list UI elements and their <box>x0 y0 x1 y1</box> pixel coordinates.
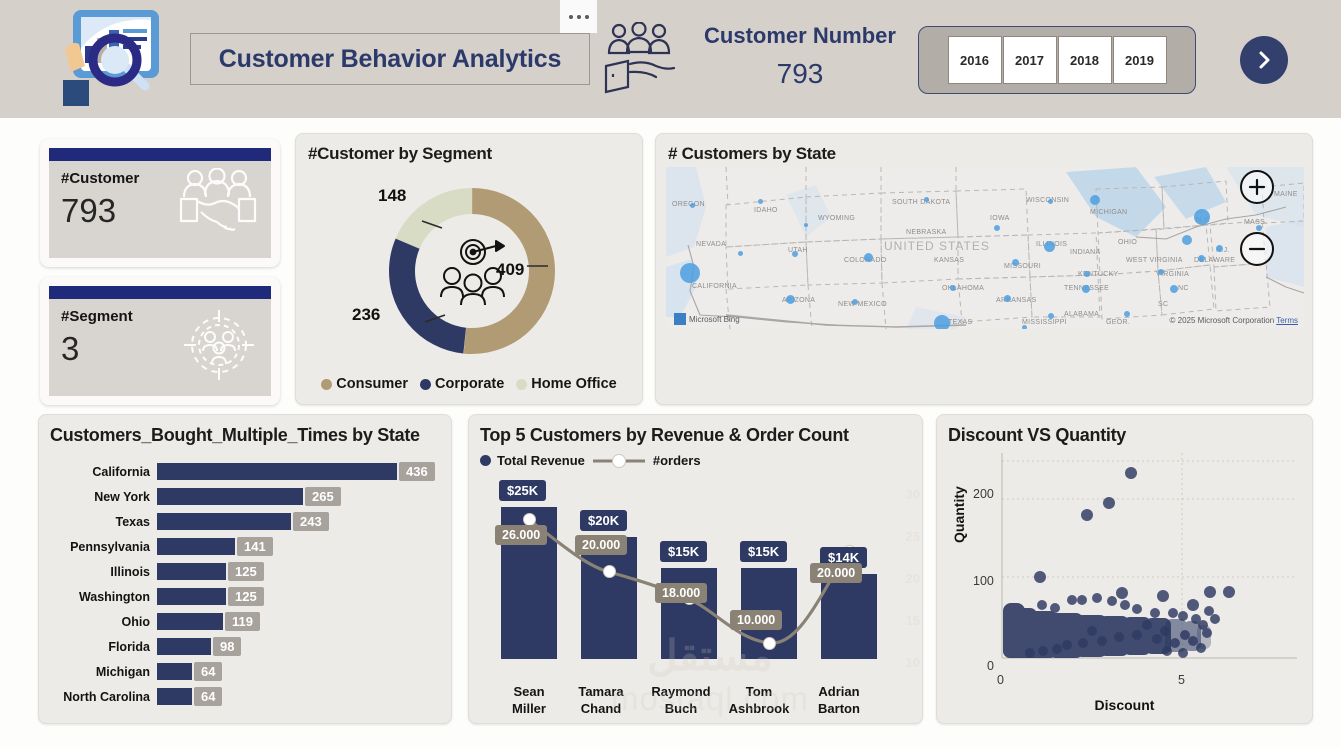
slicer-year-2019[interactable]: 2019 <box>1113 36 1167 84</box>
map-bubble[interactable] <box>852 299 858 305</box>
table-row[interactable]: Washington 125 <box>47 584 445 609</box>
combo-line-label: 20.000 <box>575 535 627 555</box>
map-label-oklahoma: OKLAHOMA <box>942 285 984 292</box>
bar-value: 64 <box>194 687 222 706</box>
bar-value: 125 <box>228 562 264 581</box>
map-label-wyoming: WYOMING <box>818 215 855 222</box>
combo-x-line2: Ashbrook <box>717 700 801 717</box>
bar-value: 265 <box>305 487 341 506</box>
map-label-country: UNITED STATES <box>884 239 990 253</box>
bar-fill <box>157 513 291 530</box>
map-label-iowa: IOWA <box>990 215 1010 222</box>
map-label-texas: TEXAS <box>948 319 972 326</box>
state-bar-panel: Customers_Bought_Multiple_Times by State… <box>38 414 452 724</box>
bar-fill <box>157 488 303 505</box>
combo-x-line1: Tom <box>717 683 801 700</box>
bar-fill <box>157 588 226 605</box>
scatter-title: Discount VS Quantity <box>948 425 1126 446</box>
map-bubble[interactable] <box>1198 255 1205 262</box>
bar-value: 141 <box>237 537 273 556</box>
combo-x-line1: Tamara <box>559 683 643 700</box>
bar-fill <box>157 463 397 480</box>
map-bubble[interactable] <box>1158 269 1164 275</box>
kpi-accent-bar <box>49 286 271 299</box>
map-label-michigan: MICHIGAN <box>1090 209 1127 216</box>
bar-category: California <box>47 465 157 479</box>
handshake-people-icon <box>177 168 259 239</box>
map-bubble[interactable] <box>1216 245 1223 252</box>
combo-line-point[interactable] <box>603 565 616 578</box>
scatter-x-tick-5: 5 <box>1178 673 1185 687</box>
map-label-south-dakota: SOUTH DAKOTA <box>892 199 950 206</box>
legend-label-corporate: Corporate <box>435 376 504 392</box>
map-canvas[interactable]: OREGON IDAHO WYOMING SOUTH DAKOTA NEBRAS… <box>666 167 1304 329</box>
state-bar-title: Customers_Bought_Multiple_Times by State <box>50 425 420 446</box>
chevron-right-icon[interactable] <box>1240 36 1288 84</box>
bar-category: Pennsylvania <box>47 540 157 554</box>
legend-item-consumer[interactable]: Consumer <box>321 376 408 392</box>
map-bubble[interactable] <box>1194 209 1210 225</box>
donut-label-corporate: 236 <box>352 305 380 325</box>
map-bubble[interactable] <box>792 251 798 257</box>
map-bubble[interactable] <box>950 285 956 291</box>
combo-axis-right-tick: 20 <box>906 571 920 586</box>
combo-x-line1: Raymond <box>639 683 723 700</box>
table-row[interactable]: Michigan 64 <box>47 659 445 684</box>
bar-fill <box>157 563 226 580</box>
customers-hand-icon <box>600 22 678 96</box>
map-label-alabama: ALABAMA <box>1064 311 1099 318</box>
bar-track: 436 <box>157 459 445 484</box>
target-audience-icon <box>179 306 259 389</box>
map-bubble[interactable] <box>1012 259 1019 266</box>
legend-item-corporate[interactable]: Corporate <box>420 376 504 392</box>
map-bubble[interactable] <box>1048 199 1053 204</box>
map-terms-link[interactable]: Terms <box>1276 316 1298 325</box>
bar-category: New York <box>47 490 157 504</box>
bar-track: 64 <box>157 659 445 684</box>
bing-label: Microsoft Bing <box>689 315 740 324</box>
bar-category: North Carolina <box>47 690 157 704</box>
combo-x-label: Adrian Barton <box>797 683 881 717</box>
combo-bar-label: $15K <box>660 541 707 562</box>
bar-track: 119 <box>157 609 445 634</box>
combo-line-label: 10.000 <box>730 610 782 630</box>
donut-legend: Consumer Corporate Home Office <box>296 376 642 392</box>
map-panel: # Customers by State <box>655 133 1313 405</box>
scatter-y-tick-100: 100 <box>973 574 994 588</box>
bar-fill <box>157 663 192 680</box>
legend-line-orders-icon <box>591 454 647 468</box>
table-row[interactable]: Texas 243 <box>47 509 445 534</box>
microsoft-bing-logo: Microsoft Bing <box>674 313 740 325</box>
map-label-south-carolina: SC <box>1158 301 1168 308</box>
map-bubble[interactable] <box>924 197 929 202</box>
map-label-mississippi: MISSISSIPPI <box>1022 319 1067 326</box>
table-row[interactable]: Pennsylvania 141 <box>47 534 445 559</box>
combo-line-label: 26.000 <box>495 525 547 545</box>
donut-panel: #Customer by Segment 409 148 <box>295 133 643 405</box>
combo-x-line2: Chand <box>559 700 643 717</box>
year-slicer[interactable]: 2016 2017 2018 2019 <box>918 26 1196 94</box>
donut-title: #Customer by Segment <box>308 144 492 164</box>
kpi-customer-label: #Customer <box>61 170 139 187</box>
page-title: Customer Behavior Analytics <box>219 45 561 74</box>
map-bubble[interactable] <box>1048 313 1054 319</box>
bar-fill <box>157 613 223 630</box>
combo-axis-right-tick: 25 <box>906 529 920 544</box>
combo-x-line2: Buch <box>639 700 723 717</box>
map-label-maine: MAINE <box>1274 191 1298 198</box>
bar-value: 436 <box>399 462 435 481</box>
legend-swatch-consumer <box>321 379 332 390</box>
page-header: Customer Behavior Analytics <box>0 0 1341 118</box>
map-label-nebraska: NEBRASKA <box>906 229 947 236</box>
combo-bar-label: $20K <box>580 510 627 531</box>
discount-quantity-panel: Discount VS Quantity Quantity Discount 2… <box>936 414 1313 724</box>
map-attribution: © 2025 Microsoft Corporation Terms <box>1170 316 1298 325</box>
scatter-y-axis-label: Quantity <box>951 486 967 543</box>
slicer-year-2018[interactable]: 2018 <box>1058 36 1112 84</box>
bar-value: 125 <box>228 587 264 606</box>
analytics-magnifier-icon <box>57 8 175 110</box>
map-label-north-carolina: NC <box>1178 285 1189 292</box>
map-bubble[interactable] <box>1084 271 1090 277</box>
table-row[interactable]: New York 265 <box>47 484 445 509</box>
map-label-oregon: OREGON <box>672 201 705 208</box>
bar-value: 98 <box>213 637 241 656</box>
kpi-card-customer: #Customer 793 <box>40 139 280 267</box>
scatter-plot[interactable] <box>997 453 1297 673</box>
map-title: # Customers by State <box>668 144 836 164</box>
legend-swatch-corporate <box>420 379 431 390</box>
bar-fill <box>157 538 235 555</box>
bar-track: 125 <box>157 584 445 609</box>
scatter-x-axis-label: Discount <box>937 697 1312 713</box>
legend-item-home-office[interactable]: Home Office <box>516 376 616 392</box>
combo-bar-label: $15K <box>740 541 787 562</box>
map-label-new-mexico: NEW MEXICO <box>838 301 887 308</box>
map-label-indiana: INDIANA <box>1070 249 1101 256</box>
combo-line-point[interactable] <box>763 637 776 650</box>
table-row[interactable]: North Carolina 64 <box>47 684 445 709</box>
more-options-icon[interactable] <box>560 0 597 33</box>
kpi-segment-value: 3 <box>61 330 79 368</box>
combo-x-line2: Barton <box>797 700 881 717</box>
bar-category: Michigan <box>47 665 157 679</box>
map-label-california: CALIFORNIA <box>692 283 737 290</box>
map-label-nevada: NEVADA <box>696 241 726 248</box>
combo-axis-right-tick: 15 <box>906 613 920 628</box>
kpi-segment-label: #Segment <box>61 308 133 325</box>
kpi-accent-bar <box>49 148 271 161</box>
minus-icon[interactable] <box>1240 232 1274 266</box>
map-bubble[interactable] <box>1182 235 1192 245</box>
bar-value: 243 <box>293 512 329 531</box>
bar-fill <box>157 688 192 705</box>
map-bubble[interactable] <box>1044 241 1055 252</box>
combo-line-label: 20.000 <box>810 563 862 583</box>
map-bubble[interactable] <box>1022 325 1027 329</box>
legend-swatch-total-revenue <box>480 455 491 466</box>
combo-line-label: 18.000 <box>655 583 707 603</box>
customer-number-label: Customer Number <box>700 23 900 49</box>
slicer-year-2016[interactable]: 2016 <box>948 36 1002 84</box>
kpi-customer-value: 793 <box>61 192 116 230</box>
bar-value: 64 <box>194 662 222 681</box>
map-bubble[interactable] <box>1090 195 1100 205</box>
bar-track: 125 <box>157 559 445 584</box>
combo-x-line1: Adrian <box>797 683 881 700</box>
dashboard-title-box: Customer Behavior Analytics <box>190 33 590 85</box>
map-bubble[interactable] <box>690 203 695 208</box>
bar-track: 64 <box>157 684 445 709</box>
table-row[interactable]: Ohio 119 <box>47 609 445 634</box>
map-bubble[interactable] <box>994 225 1000 231</box>
map-bubble[interactable] <box>680 263 700 283</box>
map-label-arkansas: ARKANSAS <box>996 297 1037 304</box>
map-label-missouri: MISSOURI <box>1004 263 1041 270</box>
map-bubble[interactable] <box>1124 311 1130 317</box>
bar-category: Ohio <box>47 615 157 629</box>
bar-track: 98 <box>157 634 445 659</box>
bar-category: Illinois <box>47 565 157 579</box>
map-label-ohio: OHIO <box>1118 239 1137 246</box>
table-row[interactable]: California 436 <box>47 459 445 484</box>
legend-swatch-home-office <box>516 379 527 390</box>
legend-label-home-office: Home Office <box>531 376 616 392</box>
map-bubble[interactable] <box>934 315 950 329</box>
slicer-year-2017[interactable]: 2017 <box>1003 36 1057 84</box>
top-customers-title: Top 5 Customers by Revenue & Order Count <box>480 425 849 446</box>
top-customers-panel: Top 5 Customers by Revenue & Order Count… <box>468 414 923 724</box>
bar-value: 119 <box>225 612 260 631</box>
table-row[interactable]: Illinois 125 <box>47 559 445 584</box>
map-bubble[interactable] <box>758 199 763 204</box>
legend-label-total-revenue: Total Revenue <box>497 453 585 468</box>
bar-category: Florida <box>47 640 157 654</box>
combo-legend: Total Revenue #orders <box>480 453 701 468</box>
dashboard-page: Customer Behavior Analytics <box>0 0 1341 748</box>
bar-fill <box>157 638 211 655</box>
kpi-card-segment: #Segment 3 <box>40 277 280 405</box>
bar-track: 141 <box>157 534 445 559</box>
scatter-x-tick-0: 0 <box>997 673 1004 687</box>
map-label-mass: MASS. <box>1244 219 1267 226</box>
map-bubble[interactable] <box>1256 225 1262 231</box>
map-bubble[interactable] <box>864 253 873 262</box>
combo-plot: $25K $20K $15K $15K $14K 26.000 20.000 1… <box>483 477 895 677</box>
combo-x-label: Tom Ashbrook <box>717 683 801 717</box>
plus-icon[interactable] <box>1240 170 1274 204</box>
customer-number-value: 793 <box>700 58 900 90</box>
combo-x-label: Raymond Buch <box>639 683 723 717</box>
combo-axis-right-tick: 30 <box>906 487 920 502</box>
map-label-georgia: GEOR. <box>1106 319 1130 326</box>
donut-label-consumer: 409 <box>496 260 524 280</box>
scatter-y-tick-200: 200 <box>973 487 994 501</box>
state-bar-list: California 436 New York 265 Texas 243 <box>47 459 445 709</box>
scatter-y-tick-0: 0 <box>987 659 994 673</box>
map-bubble[interactable] <box>1082 285 1090 293</box>
map-label-idaho: IDAHO <box>754 207 778 214</box>
combo-x-label: Tamara Chand <box>559 683 643 717</box>
bar-category: Washington <box>47 590 157 604</box>
bar-category: Texas <box>47 515 157 529</box>
map-bubble[interactable] <box>1170 285 1178 293</box>
map-label-kansas: KANSAS <box>934 257 964 264</box>
legend-label-consumer: Consumer <box>336 376 408 392</box>
legend-label-orders: #orders <box>653 453 701 468</box>
map-label-west-virginia: WEST VIRGINIA <box>1126 257 1183 264</box>
map-bubble[interactable] <box>804 223 808 227</box>
map-bubble[interactable] <box>1004 295 1011 302</box>
map-bubble[interactable] <box>738 251 743 256</box>
bar-track: 243 <box>157 509 445 534</box>
table-row[interactable]: Florida 98 <box>47 634 445 659</box>
bar-track: 265 <box>157 484 445 509</box>
map-bubble[interactable] <box>786 295 795 304</box>
combo-axis-right-tick: 10 <box>906 655 920 670</box>
bing-icon <box>674 313 686 325</box>
combo-bar-label: $25K <box>499 480 546 501</box>
map-copyright: © 2025 Microsoft Corporation <box>1170 316 1275 325</box>
donut-label-home-office: 148 <box>378 186 406 206</box>
